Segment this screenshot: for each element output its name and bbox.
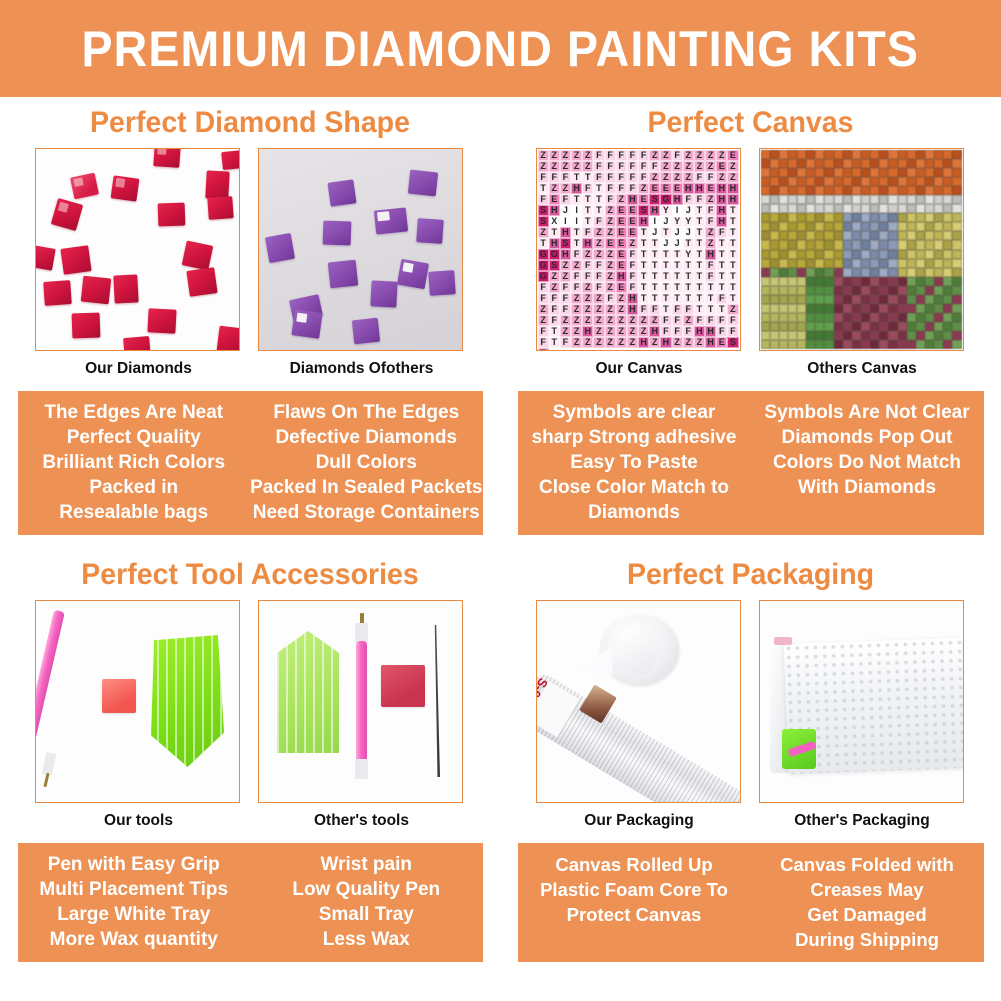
mosaic-cell (797, 186, 806, 195)
diamond-tile (186, 267, 217, 297)
symbol-cell: Z (593, 227, 604, 238)
symbol-cell: Z (560, 326, 571, 337)
mosaic-cell (806, 304, 815, 313)
symbol-cell: H (716, 205, 727, 216)
mosaic-cell (898, 295, 907, 304)
mosaic-cell (888, 150, 897, 159)
mosaic-cell (870, 268, 879, 277)
mosaic-cell (797, 231, 806, 240)
mosaic-cell (824, 159, 833, 168)
mosaic-cell (834, 277, 843, 286)
symbol-cell: T (683, 293, 694, 304)
mosaic-cell (761, 259, 770, 268)
diamond-tile (43, 280, 72, 306)
symbol-cell: F (627, 172, 638, 183)
mosaic-cell (770, 322, 779, 331)
mosaic-cell (779, 231, 788, 240)
mosaic-cell (834, 150, 843, 159)
mosaic-cell (907, 150, 916, 159)
mosaic-cell (788, 340, 797, 349)
mosaic-cell (870, 213, 879, 222)
diamond-tile (416, 218, 444, 244)
image-frame-others-canvas (759, 148, 964, 351)
mosaic-cell (925, 286, 934, 295)
symbol-cell: T (571, 172, 582, 183)
bullet-line: sharp Strong adhesive (518, 425, 751, 450)
panel-others-packaging: Other's Packaging (759, 600, 966, 830)
mosaic-cell (898, 159, 907, 168)
mosaic-cell (898, 259, 907, 268)
mosaic-cell (824, 259, 833, 268)
diamond-tile (207, 196, 233, 220)
mosaic-cell (761, 150, 770, 159)
mosaic-cell (888, 286, 897, 295)
symbol-cell: H (627, 304, 638, 315)
mosaic-cell (761, 231, 770, 240)
symbol-cell: T (538, 183, 549, 194)
symbol-cell: Z (705, 161, 716, 172)
panel-row-tools: Our tools Othe (0, 600, 500, 830)
symbol-cell: T (649, 293, 660, 304)
mosaic-cell (761, 159, 770, 168)
symbol-cell: Z (582, 282, 593, 293)
image-frame-others-tools (258, 600, 463, 803)
symbol-cell: Z (627, 238, 638, 249)
symbol-cell: T (672, 249, 683, 260)
mosaic-cell (888, 195, 897, 204)
symbol-cell: T (660, 227, 671, 238)
mosaic-cell (788, 204, 797, 213)
symbol-cell: T (727, 238, 738, 249)
symbol-cell: E (538, 348, 549, 351)
mosaic-cell (952, 313, 961, 322)
mosaic-cell (797, 286, 806, 295)
symbol-cell: F (605, 293, 616, 304)
image-frame-diamonds-ofothers (258, 148, 463, 351)
mosaic-cell (907, 240, 916, 249)
mosaic-cell (843, 340, 852, 349)
symbol-cell: H (582, 238, 593, 249)
bullet-line: Symbols Are Not Clear (751, 400, 984, 425)
mosaic-cell (770, 177, 779, 186)
mosaic-cell (943, 295, 952, 304)
symbol-cell: F (605, 161, 616, 172)
symbol-cell: F (672, 315, 683, 326)
mosaic-cell (806, 159, 815, 168)
mosaic-cell (925, 322, 934, 331)
mosaic-cell (852, 231, 861, 240)
symbol-cell: Z (549, 183, 560, 194)
symbol-cell: Z (727, 161, 738, 172)
symbol-cell: Z (538, 150, 549, 161)
symbol-cell: H (571, 183, 582, 194)
symbol-cell: T (672, 293, 683, 304)
mosaic-cell (907, 168, 916, 177)
mosaic-cell (779, 150, 788, 159)
symbol-cell: F (605, 150, 616, 161)
mosaic-cell (907, 286, 916, 295)
bullet-line: Resealable bags (18, 500, 251, 525)
symbol-cell: I (571, 205, 582, 216)
mosaic-cell (834, 322, 843, 331)
symbol-cell: F (538, 282, 549, 293)
mosaic-cell (815, 168, 824, 177)
mosaic-cell (770, 204, 779, 213)
mosaic-cell (834, 231, 843, 240)
mosaic-cell (788, 322, 797, 331)
mosaic-cell (916, 259, 925, 268)
mosaic-cell (925, 213, 934, 222)
mosaic-cell (834, 295, 843, 304)
mosaic-cell (879, 313, 888, 322)
bullet-col-others: Wrist pain Low Quality Pen Small Tray Le… (250, 852, 483, 952)
mosaic-cell (834, 195, 843, 204)
bullet-line: With Diamonds (751, 475, 984, 500)
symbol-cell: F (593, 150, 604, 161)
symbol-cell: T (683, 271, 694, 282)
symbol-cell: H (560, 249, 571, 260)
symbol-cell: J (683, 227, 694, 238)
mosaic-cell (788, 213, 797, 222)
mosaic-cell (870, 159, 879, 168)
symbol-cell: F (571, 271, 582, 282)
symbol-cell: F (538, 194, 549, 205)
symbol-cell: H (627, 293, 638, 304)
mosaic-cell (888, 304, 897, 313)
mosaic-cell (788, 259, 797, 268)
panel-caption: Diamonds Ofothers (258, 360, 465, 378)
mosaic-cell (761, 286, 770, 295)
symbol-cell: G (538, 260, 549, 271)
symbol-cell: T (549, 326, 560, 337)
mosaic-cell (843, 259, 852, 268)
mosaic-cell (861, 195, 870, 204)
mosaic-cell (934, 304, 943, 313)
mosaic-cell (815, 150, 824, 159)
symbol-cell: T (538, 238, 549, 249)
mosaic-cell (888, 295, 897, 304)
mosaic-cell (898, 213, 907, 222)
symbol-cell: Z (593, 249, 604, 260)
symbol-cell: T (593, 183, 604, 194)
mosaic-cell (815, 322, 824, 331)
bullet-line: Symbols are clear (518, 400, 751, 425)
bullet-line: Diamonds (518, 500, 751, 525)
mosaic-cell (852, 213, 861, 222)
mosaic-cell (925, 277, 934, 286)
mosaic-cell (907, 331, 916, 340)
mosaic-cell (761, 240, 770, 249)
mosaic-cell (888, 313, 897, 322)
symbol-cell: S (649, 194, 660, 205)
mosaic-cell (770, 250, 779, 259)
mosaic-cell (943, 195, 952, 204)
bullet-box-tools: Pen with Easy Grip Multi Placement Tips … (18, 843, 483, 962)
mosaic-cell (815, 250, 824, 259)
mosaic-cell (761, 213, 770, 222)
diamond-tile (265, 233, 295, 263)
mosaic-cell (934, 268, 943, 277)
symbol-cell: F (627, 150, 638, 161)
symbol-cell: Z (649, 337, 660, 348)
symbol-cell: H (727, 183, 738, 194)
symbol-cell: T (549, 227, 560, 238)
symbol-cell: S (638, 205, 649, 216)
mosaic-cell (834, 213, 843, 222)
panel-caption: Our Packaging (536, 812, 743, 830)
mosaic-cell (824, 186, 833, 195)
diamond-tile (328, 260, 359, 289)
symbol-cell: Z (582, 161, 593, 172)
mosaic-cell (843, 168, 852, 177)
mosaic-cell (852, 150, 861, 159)
mosaic-cell (824, 340, 833, 349)
mosaic-cell (861, 168, 870, 177)
mosaic-cell (861, 277, 870, 286)
mosaic-cell (943, 250, 952, 259)
symbol-cell: Z (683, 315, 694, 326)
mosaic-cell (898, 204, 907, 213)
mosaic-cell (770, 222, 779, 231)
mosaic-cell (952, 340, 961, 349)
mosaic-cell (852, 222, 861, 231)
symbol-cell: H (672, 194, 683, 205)
symbol-cell: Y (683, 249, 694, 260)
symbol-cell: Z (549, 282, 560, 293)
mosaic-cell (943, 177, 952, 186)
mosaic-cell (952, 259, 961, 268)
symbol-cell: E (727, 150, 738, 161)
mosaic-cell (925, 259, 934, 268)
symbol-cell: F (560, 194, 571, 205)
mosaic-cell (861, 231, 870, 240)
symbol-cell: F (638, 161, 649, 172)
mosaic-cell (861, 331, 870, 340)
mosaic-cell (952, 177, 961, 186)
mosaic-cell (843, 313, 852, 322)
diamond-tile (374, 207, 408, 234)
symbol-cell: Z (593, 315, 604, 326)
mosaic-cell (815, 259, 824, 268)
mosaic-cell (943, 213, 952, 222)
symbol-cell: E (716, 161, 727, 172)
symbol-cell: T (638, 282, 649, 293)
symbol-cell: Z (627, 315, 638, 326)
mosaic-cell (898, 195, 907, 204)
symbol-cell: F (694, 315, 705, 326)
mosaic-cell (943, 331, 952, 340)
diamond-tile (111, 175, 140, 201)
symbol-cell: Z (560, 183, 571, 194)
mosaic-cell (952, 204, 961, 213)
panel-caption: Our Canvas (536, 360, 743, 378)
mosaic-cell (806, 286, 815, 295)
mosaic-cell (824, 168, 833, 177)
symbol-cell: Z (571, 150, 582, 161)
bullet-line: Need Storage Containers (250, 500, 483, 525)
symbol-cell: Z (683, 161, 694, 172)
symbol-cell: Z (683, 337, 694, 348)
mosaic-cell (843, 177, 852, 186)
symbol-cell: Y (672, 216, 683, 227)
mosaic-cell (861, 313, 870, 322)
symbol-cell: F (605, 194, 616, 205)
symbol-cell: H (727, 194, 738, 205)
mosaic-cell (806, 250, 815, 259)
symbol-cell: T (660, 293, 671, 304)
mosaic-cell (934, 340, 943, 349)
mosaic-cell (761, 177, 770, 186)
symbol-cell: T (727, 205, 738, 216)
symbol-cell: F (705, 260, 716, 271)
mosaic-cell (788, 240, 797, 249)
bullet-box-diamond-shape: The Edges Are Neat Perfect Quality Brill… (18, 391, 483, 535)
symbol-cell: T (705, 282, 716, 293)
symbol-cell: Z (593, 293, 604, 304)
mosaic-cell (952, 268, 961, 277)
mosaic-cell (815, 340, 824, 349)
symbol-cell: F (672, 326, 683, 337)
mosaic-cell (907, 186, 916, 195)
symbol-cell: Z (560, 271, 571, 282)
mosaic-cell (925, 150, 934, 159)
symbol-cell: F (571, 282, 582, 293)
mosaic-cell (952, 331, 961, 340)
mosaic-cell (797, 295, 806, 304)
bullet-line: Canvas Rolled Up (518, 852, 751, 877)
tube-cap-plug (619, 631, 657, 675)
mosaic-cell (779, 322, 788, 331)
symbol-cell: T (649, 260, 660, 271)
symbol-cell: T (649, 282, 660, 293)
mosaic-cell (888, 168, 897, 177)
page-header-banner: PREMIUM DIAMOND PAINTING KITS (0, 0, 1001, 97)
mosaic-cell (907, 295, 916, 304)
symbol-cell: F (549, 293, 560, 304)
mosaic-cell (797, 313, 806, 322)
drill-tray (277, 631, 339, 753)
panel-caption: Others Canvas (759, 360, 966, 378)
symbol-cell: J (560, 205, 571, 216)
mosaic-cell (824, 268, 833, 277)
mosaic-cell (834, 313, 843, 322)
mosaic-cell (852, 304, 861, 313)
symbol-cell: G (549, 249, 560, 260)
panel-our-canvas: ZZZZZFFFFFZZFZZZZEZZZZZFFFFFFZZZZZEZFFFT… (536, 148, 743, 378)
image-frame-our-canvas: ZZZZZFFFFFZZFZZZZEZZZZZFFFFFFZZZZZEZFFFT… (536, 148, 741, 351)
mosaic-cell (879, 168, 888, 177)
mosaic-cell (952, 322, 961, 331)
symbol-cell: S (560, 238, 571, 249)
symbol-cell: Z (638, 183, 649, 194)
symbol-cell: H (627, 194, 638, 205)
diamond-tile (72, 313, 101, 339)
mosaic-cell (779, 222, 788, 231)
symbol-cell: J (649, 227, 660, 238)
mosaic-cell (834, 168, 843, 177)
mosaic-cell (934, 204, 943, 213)
bullet-line: Packed In Sealed Packets (250, 475, 483, 500)
mosaic-cell (952, 304, 961, 313)
mosaic-cell (870, 322, 879, 331)
mosaic-cell (843, 286, 852, 295)
mosaic-cell (852, 240, 861, 249)
mailer-edge-tab (774, 637, 792, 645)
symbol-cell: Z (593, 326, 604, 337)
bullet-line: Easy To Paste (518, 450, 751, 475)
symbol-cell: T (727, 260, 738, 271)
mosaic-cell (761, 222, 770, 231)
mosaic-cell (797, 322, 806, 331)
symbol-cell: F (549, 172, 560, 183)
mosaic-cell (761, 268, 770, 277)
mosaic-cell (916, 213, 925, 222)
symbol-cell: F (616, 183, 627, 194)
mosaic-cell (824, 204, 833, 213)
symbol-cell: T (727, 282, 738, 293)
diamond-tile (113, 274, 138, 303)
bullet-line: Small Tray (250, 902, 483, 927)
mosaic-cell (834, 340, 843, 349)
mosaic-cell (898, 177, 907, 186)
symbol-cell: T (727, 227, 738, 238)
mosaic-cell (870, 286, 879, 295)
mosaic-cell (761, 313, 770, 322)
symbol-cell: F (649, 161, 660, 172)
mosaic-cell (852, 313, 861, 322)
diamond-tile (182, 240, 214, 270)
panel-row-diamond-shape: Our Diamonds (0, 148, 500, 378)
mosaic-cell (761, 168, 770, 177)
mosaic-cell (779, 286, 788, 295)
symbol-cell: Z (649, 315, 660, 326)
symbol-cell: Z (727, 172, 738, 183)
bullet-line: Plastic Foam Core To (518, 877, 751, 902)
symbol-cell: Z (538, 304, 549, 315)
mosaic-cell (907, 313, 916, 322)
bullet-line: Protect Canvas (518, 902, 751, 927)
mosaic-cell (916, 250, 925, 259)
symbol-cell: T (582, 216, 593, 227)
mosaic-cell (888, 268, 897, 277)
symbol-cell: E (616, 227, 627, 238)
symbol-cell: Z (616, 326, 627, 337)
mosaic-cell (815, 159, 824, 168)
symbol-cell: F (705, 315, 716, 326)
mosaic-cell (943, 286, 952, 295)
bullet-line: Colors Do Not Match (751, 450, 984, 475)
symbol-cell: T (660, 282, 671, 293)
mosaic-cell (898, 186, 907, 195)
panel-row-canvas: ZZZZZFFFFFZZFZZZZEZZZZZFFFFFFZZZZZEZFFFT… (500, 148, 1001, 378)
mosaic-cell (770, 331, 779, 340)
symbol-cell: T (694, 249, 705, 260)
mosaic-cell (861, 250, 870, 259)
panel-our-diamonds: Our Diamonds (35, 148, 242, 378)
bullet-col-ours: Pen with Easy Grip Multi Placement Tips … (18, 852, 251, 952)
symbol-cell: Z (582, 304, 593, 315)
diamond-tile (81, 276, 112, 305)
mosaic-cell (761, 304, 770, 313)
mosaic-cell (779, 186, 788, 195)
section-tool-accessories: Perfect Tool Accessories Our tools (0, 549, 500, 1001)
diamond-tile (205, 170, 229, 199)
mosaic-cell (907, 250, 916, 259)
mosaic-cell (806, 295, 815, 304)
mosaic-cell (770, 259, 779, 268)
mosaic-cell (943, 168, 952, 177)
bullet-line: During Shipping (751, 927, 984, 952)
